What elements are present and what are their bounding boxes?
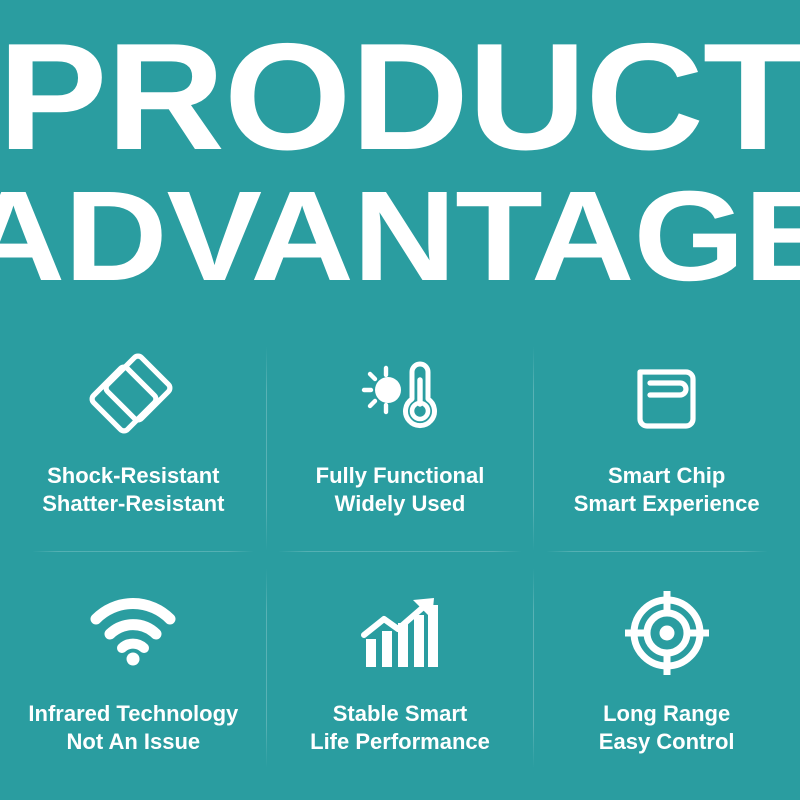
feature-label-line1: Fully Functional [316,463,485,488]
product-advantage-poster: PRODUCT ADVANTAGE Shock-Resistant Shatte… [0,0,800,800]
feature-label-line1: Shock-Resistant [47,463,219,488]
overlapping-diamonds-icon [85,356,181,442]
feature-label-line2: Widely Used [316,490,485,518]
feature-label: Fully Functional Widely Used [316,462,485,518]
feature-item-stable-smart: Stable Smart Life Performance [267,560,534,780]
title-line-product: PRODUCT [0,26,800,169]
page-title: PRODUCT ADVANTAGE [0,26,800,297]
feature-label-line2: Not An Issue [28,728,238,756]
feature-label-line1: Stable Smart [333,701,468,726]
feature-label-line2: Shatter-Resistant [42,490,224,518]
feature-item-infrared-technology: Infrared Technology Not An Issue [0,560,267,780]
feature-label-line2: Life Performance [310,728,490,756]
feature-item-smart-chip: Smart Chip Smart Experience [533,340,800,560]
feature-item-fully-functional: Fully Functional Widely Used [267,340,534,560]
feature-label: Infrared Technology Not An Issue [28,700,238,756]
feature-label: Stable Smart Life Performance [310,700,490,756]
feature-label-line1: Smart Chip [608,463,725,488]
feature-label-line2: Smart Experience [574,490,760,518]
sun-thermometer-icon [352,356,448,442]
feature-label-line1: Infrared Technology [28,701,238,726]
smart-chip-icon [619,356,715,442]
feature-label-line1: Long Range [603,701,730,726]
feature-label: Shock-Resistant Shatter-Resistant [42,462,224,518]
feature-label: Smart Chip Smart Experience [574,462,760,518]
wifi-signal-icon [85,590,181,676]
bar-chart-growth-icon [352,590,448,676]
feature-item-long-range: Long Range Easy Control [533,560,800,780]
feature-item-shock-resistant: Shock-Resistant Shatter-Resistant [0,340,267,560]
feature-label-line2: Easy Control [599,728,735,756]
feature-grid: Shock-Resistant Shatter-Resistant [0,340,800,780]
feature-label: Long Range Easy Control [599,700,735,756]
target-crosshair-icon [619,590,715,676]
title-line-advantage: ADVANTAGE [0,177,800,297]
